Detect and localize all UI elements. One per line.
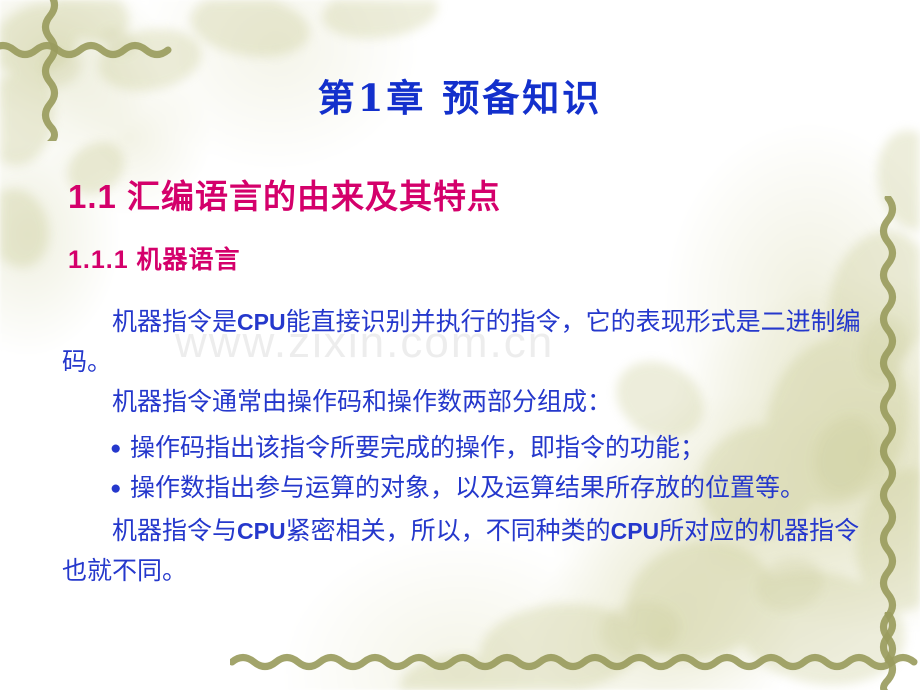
section-heading: 1.1 汇编语言的由来及其特点	[68, 170, 501, 218]
list-item: ● 操作码指出该指令所要完成的操作，即指令的功能；	[110, 429, 862, 469]
subsection-heading: 1.1.1 机器语言	[68, 240, 241, 276]
paragraph-3: 机器指令与CPU紧密相关，所以，不同种类的CPU所对应的机器指令也就不同。	[62, 511, 862, 592]
bottom-right-cross-ornament	[868, 612, 908, 690]
right-vertical-wave-ornament	[868, 196, 908, 666]
paragraph-2: 机器指令通常由操作码和操作数两部分组成：	[62, 383, 862, 423]
slide-body: 机器指令是CPU能直接识别并执行的指令，它的表现形式是二进制编码。 机器指令通常…	[62, 302, 862, 592]
list-item-label: 操作码指出该指令所要完成的操作，即指令的功能；	[130, 435, 705, 462]
bullet-icon: ●	[110, 469, 121, 509]
list-item-label: 操作数指出参与运算的对象，以及运算结果所存放的位置等。	[130, 475, 805, 502]
bullet-list: ● 操作码指出该指令所要完成的操作，即指令的功能； ● 操作数指出参与运算的对象…	[62, 429, 862, 509]
bullet-icon: ●	[110, 429, 121, 469]
top-horizontal-wave-ornament	[0, 30, 194, 70]
bottom-horizontal-wave-ornament	[230, 642, 920, 682]
presentation-slide: www.zixin.com.cn 第1章 预备知识 1.1 汇编语言的由来及其特…	[0, 0, 920, 690]
page-title: 第1章 预备知识	[0, 68, 920, 122]
list-item: ● 操作数指出参与运算的对象，以及运算结果所存放的位置等。	[110, 469, 862, 509]
paragraph-1: 机器指令是CPU能直接识别并执行的指令，它的表现形式是二进制编码。	[62, 302, 862, 383]
